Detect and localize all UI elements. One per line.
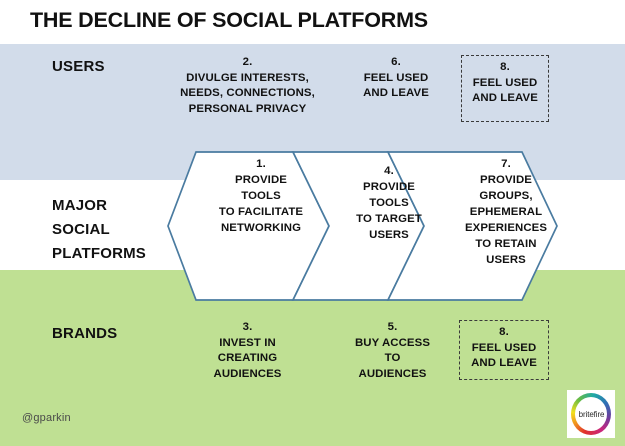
step-5-number: 5.: [330, 320, 455, 336]
step-3-block: 3. INVEST IN CREATING AUDIENCES: [185, 320, 310, 382]
step-8-users-box[interactable]: 8. FEEL USED AND LEAVE: [461, 55, 549, 122]
step-3-line-2: CREATING: [185, 351, 310, 367]
step-2-line-3: PERSONAL PRIVACY: [160, 102, 335, 118]
step-5-line-1: BUY ACCESS: [330, 336, 455, 352]
step-3-number: 3.: [185, 320, 310, 336]
step-5-block: 5. BUY ACCESS TO AUDIENCES: [330, 320, 455, 382]
step-8-users-line-1: FEEL USED: [462, 76, 548, 92]
row-label-platforms-line2: SOCIAL: [52, 218, 146, 242]
page-title: THE DECLINE OF SOCIAL PLATFORMS: [30, 8, 428, 33]
step-2-block: 2. DIVULGE INTERESTS, NEEDS, CONNECTIONS…: [160, 55, 335, 117]
step-8-brands-line-2: AND LEAVE: [460, 356, 548, 372]
step-3-line-3: AUDIENCES: [185, 367, 310, 383]
step-6-line-1: FEEL USED: [336, 71, 456, 87]
slide-canvas: THE DECLINE OF SOCIAL PLATFORMS USERS MA…: [0, 0, 625, 446]
step-6-number: 6.: [336, 55, 456, 71]
step-5-line-2: TO: [330, 351, 455, 367]
step-8-users-number: 8.: [462, 60, 548, 76]
step-6-block: 6. FEEL USED AND LEAVE: [336, 55, 456, 102]
step-2-line-2: NEEDS, CONNECTIONS,: [160, 86, 335, 102]
step-2-number: 2.: [160, 55, 335, 71]
step-8-users-line-2: AND LEAVE: [462, 91, 548, 107]
step-8-brands-number: 8.: [460, 325, 548, 341]
logo-label: britefire: [567, 390, 615, 438]
step-3-line-1: INVEST IN: [185, 336, 310, 352]
author-handle: @gparkin: [22, 412, 71, 424]
row-label-users: USERS: [52, 58, 105, 75]
step-6-line-2: AND LEAVE: [336, 86, 456, 102]
row-label-platforms-line3: PLATFORMS: [52, 242, 146, 266]
row-label-platforms-line1: MAJOR: [52, 194, 146, 218]
hexagon-chain: [160, 145, 570, 310]
step-8-brands-box[interactable]: 8. FEEL USED AND LEAVE: [459, 320, 549, 380]
step-8-brands-line-1: FEEL USED: [460, 341, 548, 357]
row-label-brands: BRANDS: [52, 325, 117, 342]
britefire-logo: britefire: [567, 390, 615, 438]
step-2-line-1: DIVULGE INTERESTS,: [160, 71, 335, 87]
step-5-line-3: AUDIENCES: [330, 367, 455, 383]
row-label-platforms: MAJOR SOCIAL PLATFORMS: [52, 194, 146, 266]
